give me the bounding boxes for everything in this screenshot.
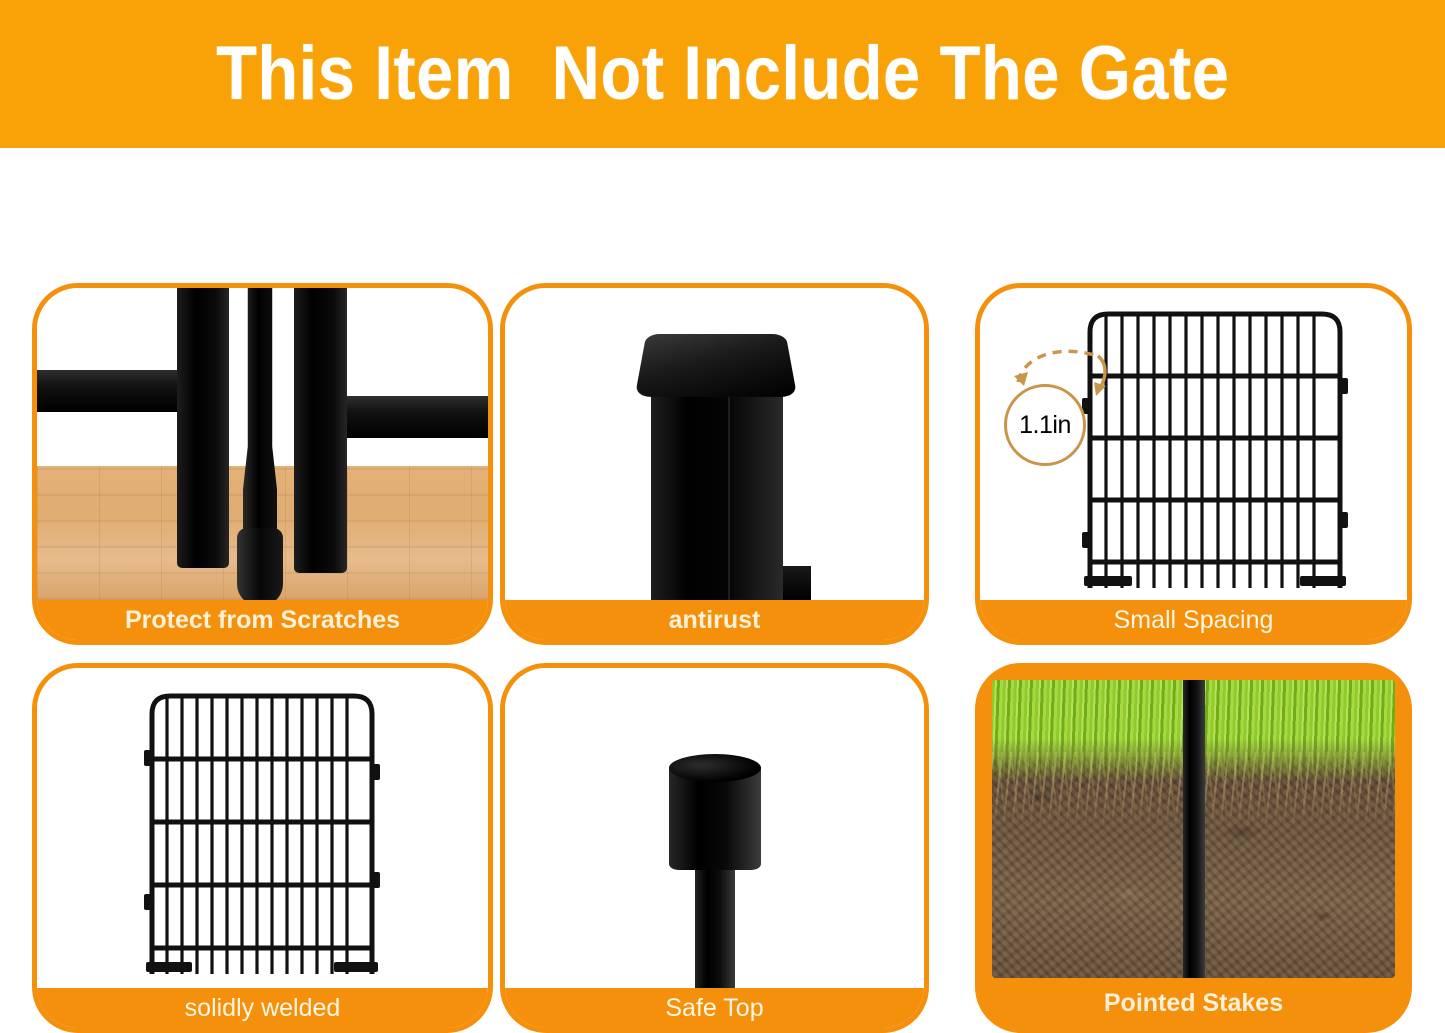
feature-card-pointed-stakes[interactable]: Pointed Stakes (975, 663, 1412, 1033)
card-caption: solidly welded (37, 988, 488, 1028)
solidly-welded-image (37, 668, 488, 988)
square-post-cap (635, 334, 798, 397)
fence-post-right (294, 288, 347, 573)
banner-title: This Item Not Include The Gate (216, 36, 1229, 112)
antirust-image (505, 288, 924, 600)
square-post-scene (505, 288, 924, 600)
feature-card-protect-from-scratches[interactable]: Protect from Scratches (32, 283, 493, 645)
small-spacing-image: 1.1in (980, 288, 1407, 600)
feature-card-solidly-welded[interactable]: solidly welded (32, 663, 493, 1033)
feature-card-antirust[interactable]: antirust (500, 283, 929, 645)
feature-card-grid: Protect from Scratches antirust (0, 148, 1445, 1033)
protect-from-scratches-image (37, 288, 488, 600)
pointed-stake (1183, 680, 1205, 978)
spacing-callout-label: 1.1in (1019, 411, 1071, 440)
wood-floor-scene (37, 288, 488, 600)
spacing-callout-badge: 1.1in (1004, 384, 1086, 466)
rod-cap-top-ellipse (669, 754, 761, 782)
safe-top-image (505, 668, 924, 988)
fence-panel-icon (142, 682, 382, 974)
fence-panel-scene (37, 668, 488, 988)
card-caption: Protect from Scratches (37, 600, 488, 640)
card-caption: antirust (505, 600, 924, 640)
feature-card-safe-top[interactable]: Safe Top (500, 663, 929, 1033)
rod-shaft (695, 864, 735, 988)
rod-cap-scene (505, 668, 924, 988)
soil-cross-section-scene (992, 680, 1395, 978)
card-caption: Small Spacing (980, 600, 1407, 640)
horizontal-rail-left (37, 370, 185, 412)
feature-card-small-spacing[interactable]: 1.1in Small Spacing (975, 283, 1412, 645)
fence-post-left (177, 288, 229, 568)
card-caption: Pointed Stakes (980, 978, 1407, 1028)
pointed-stakes-image (992, 680, 1395, 978)
header-banner: This Item Not Include The Gate (0, 0, 1445, 148)
rubber-foot-cap (237, 528, 283, 600)
horizontal-rail-right (343, 396, 488, 438)
fence-panel-scene: 1.1in (980, 288, 1407, 600)
card-caption: Safe Top (505, 988, 924, 1028)
